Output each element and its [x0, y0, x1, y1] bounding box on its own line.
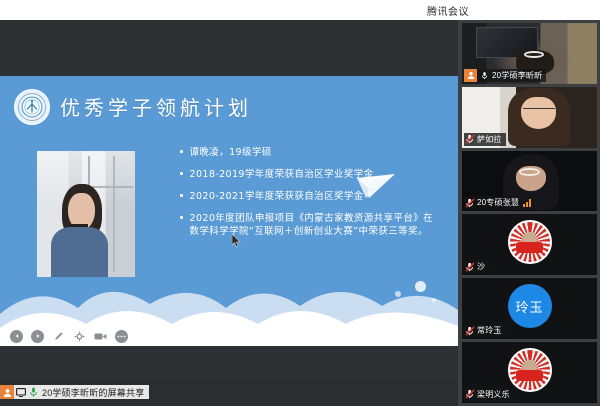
participant-name-bar: 萨如拉	[464, 133, 506, 146]
signal-strength-icon	[523, 199, 531, 207]
bullet-text: 谭晚凌，19级学硕	[190, 146, 443, 159]
participant-name-bar: 常玲玉	[464, 324, 506, 337]
bullet-dot	[180, 150, 183, 153]
participant-avatar-photo	[508, 220, 552, 264]
participant-name-bar: 沙	[464, 260, 489, 273]
microphone-muted-icon	[464, 198, 475, 208]
participant-avatar-initials: 玲玉	[508, 284, 552, 328]
bullet-text: 2020年度团队申报项目《内蒙古家教资源共享平台》在数学科学学院“互联网＋创新创…	[190, 212, 443, 238]
previous-slide-button[interactable]	[10, 330, 23, 343]
tencent-meeting-window: 腾讯会议 优秀学子领航计划	[0, 0, 600, 406]
participant-tile[interactable]: 20学硕李昕昕	[462, 23, 597, 84]
participant-tile[interactable]: 萨如拉	[462, 87, 597, 148]
decorative-orb	[395, 291, 401, 297]
participant-name: 萨如拉	[477, 134, 502, 145]
participant-tile[interactable]: 沙	[462, 214, 597, 275]
list-item: 谭晚凌，19级学硕	[180, 146, 442, 159]
participant-name: 梁明义乐	[477, 389, 510, 400]
window-title-bar: 腾讯会议	[0, 0, 600, 20]
participant-name: 常玲玉	[477, 325, 502, 336]
participant-tile[interactable]: 20专硕张慧	[462, 151, 597, 212]
bullet-text: 2018-2019学年度荣获自治区学业奖学金	[190, 168, 443, 181]
annotate-pen-button[interactable]	[52, 330, 65, 343]
microphone-muted-icon	[464, 134, 475, 144]
participant-name: 20学硕李昕昕	[492, 70, 542, 81]
student-portrait-photo	[37, 151, 135, 277]
participant-avatar-icon	[464, 69, 477, 82]
bullet-dot	[180, 172, 183, 175]
next-slide-button[interactable]	[31, 330, 44, 343]
participant-name-bar: 20学硕李昕昕	[464, 69, 546, 82]
bullet-dot	[180, 216, 183, 219]
microphone-muted-icon	[464, 326, 475, 336]
shared-screen-stage: 优秀学子领航计划	[0, 20, 458, 406]
microphone-icon	[479, 71, 490, 80]
bullet-dot	[180, 194, 183, 197]
app-title: 腾讯会议	[427, 3, 469, 18]
slide-control-toolbar[interactable]	[0, 324, 250, 346]
slide-title: 优秀学子领航计划	[60, 92, 252, 121]
slide-bullet-list: 谭晚凌，19级学硕 2018-2019学年度荣获自治区学业奖学金 2020-20…	[180, 146, 442, 247]
participant-avatar-photo	[508, 348, 552, 392]
decorative-orb	[432, 298, 436, 302]
list-item: 2020年度团队申报项目《内蒙古家教资源共享平台》在数学科学学院“互联网＋创新创…	[180, 212, 442, 238]
participant-tile[interactable]: 梁明义乐	[462, 342, 597, 403]
microphone-muted-icon	[464, 389, 475, 399]
spotlight-button[interactable]	[73, 330, 86, 343]
participant-name: 沙	[477, 261, 485, 272]
presentation-slide: 优秀学子领航计划	[0, 76, 458, 346]
bullet-text: 2020-2021学年度荣获获自治区奖学金	[190, 190, 443, 203]
decorative-orb	[415, 281, 426, 292]
participant-name-bar: 梁明义乐	[464, 388, 514, 401]
participant-tile[interactable]: 玲玉 常玲玉	[462, 278, 597, 339]
bottom-status-bar: 20学硕李昕昕的屏幕共享	[0, 378, 458, 406]
list-item: 2020-2021学年度荣获获自治区奖学金	[180, 190, 442, 203]
more-options-button[interactable]	[115, 330, 128, 343]
screen-share-icon	[14, 388, 27, 397]
participant-avatar-icon	[0, 385, 14, 399]
seal-inner-icon	[21, 96, 43, 118]
participant-video-rail[interactable]: 20学硕李昕昕 萨如拉	[458, 20, 600, 406]
screen-share-label: 20学硕李昕昕的屏幕共享	[40, 386, 144, 399]
camera-button[interactable]	[94, 330, 107, 343]
screen-share-status-chip[interactable]: 20学硕李昕昕的屏幕共享	[0, 385, 149, 399]
participant-name-bar: 20专硕张慧	[464, 196, 535, 209]
university-seal-logo	[14, 89, 50, 125]
microphone-icon	[27, 387, 40, 397]
participant-name: 20专硕张慧	[477, 197, 519, 208]
microphone-muted-icon	[464, 262, 475, 272]
list-item: 2018-2019学年度荣获自治区学业奖学金	[180, 168, 442, 181]
